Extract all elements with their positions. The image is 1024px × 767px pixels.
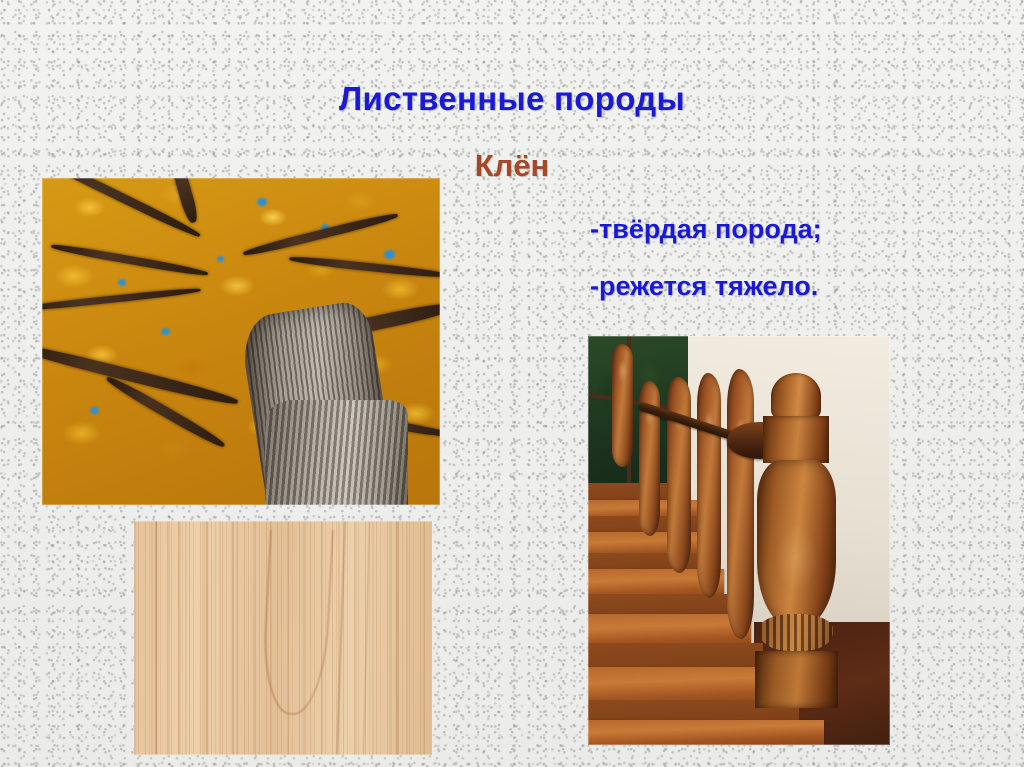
sky-patch	[90, 407, 99, 414]
list-item: -твёрдая порода;	[590, 214, 1010, 245]
page-title: Лиственные породы	[0, 80, 1024, 118]
property-list: -твёрдая порода; -режется тяжело.	[590, 214, 1010, 328]
carved-staircase-photo	[588, 336, 890, 745]
wood-grain-line	[232, 521, 233, 755]
newel-collar	[763, 416, 829, 463]
newel-body	[757, 460, 836, 628]
carved-baluster	[667, 377, 691, 573]
stair-tread	[588, 667, 781, 704]
sky-patch	[257, 198, 267, 206]
newel-finial	[771, 373, 821, 420]
stair-tread	[588, 720, 824, 745]
tree-trunk-base	[265, 400, 408, 505]
wood-grain-line	[155, 521, 157, 755]
wood-grain-line	[206, 521, 208, 755]
newel-fluting	[759, 614, 833, 651]
maple-tree-photo	[42, 178, 440, 505]
list-item: -режется тяжело.	[590, 271, 1010, 302]
maple-wood-texture	[134, 521, 432, 755]
carved-baluster	[612, 344, 633, 467]
wood-grain-line	[396, 521, 398, 755]
carved-baluster	[697, 373, 721, 598]
wood-grain-line	[179, 521, 180, 755]
carved-newel-post	[757, 373, 836, 708]
wood-grain-line	[363, 521, 370, 755]
wood-grain-line	[336, 521, 346, 755]
slide-canvas: Лиственные породы Клён -твёрдая порода; …	[0, 0, 1024, 767]
newel-plinth	[755, 651, 838, 708]
carved-baluster	[727, 369, 754, 639]
wood-grain-figure	[260, 530, 333, 715]
